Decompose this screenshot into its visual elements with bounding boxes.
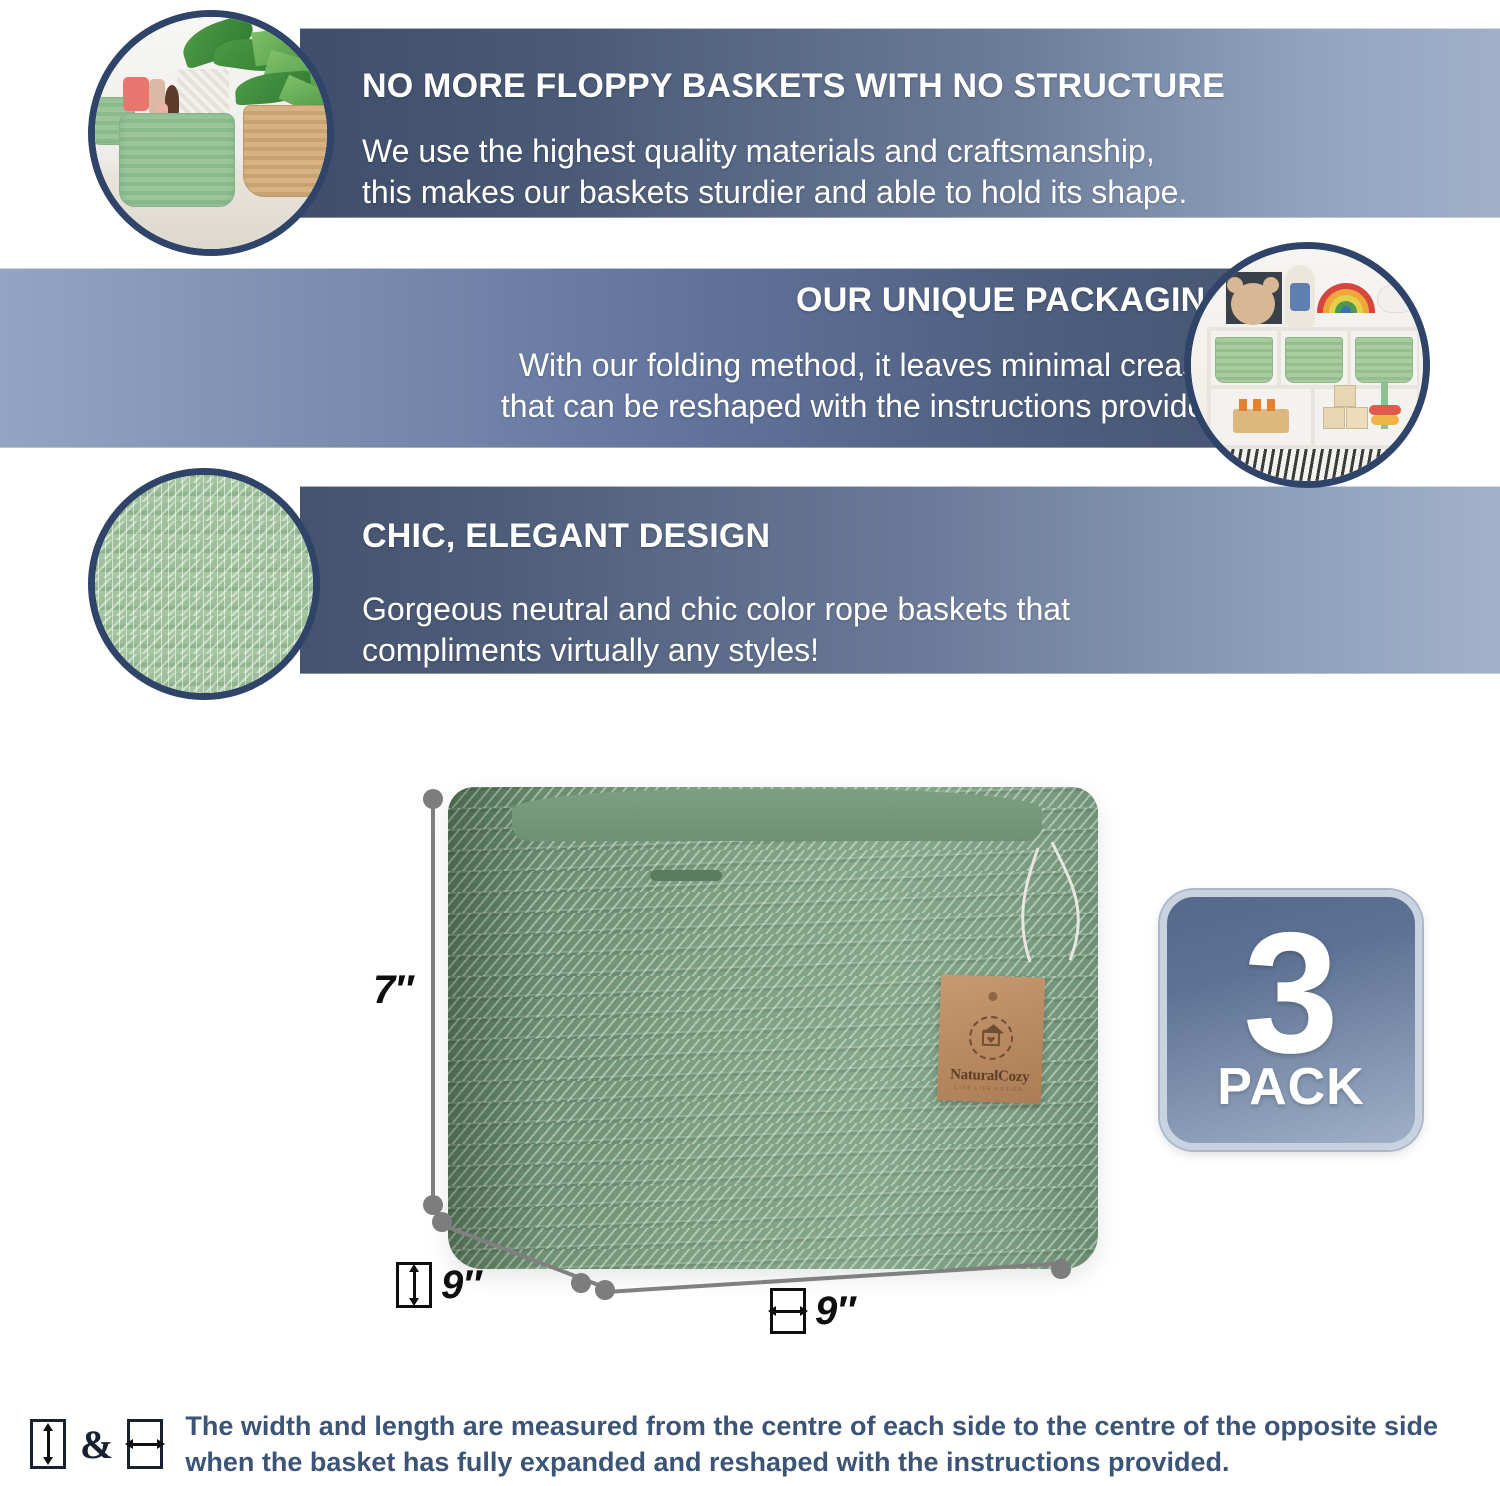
dimension-endpoint — [423, 789, 443, 809]
carrot-toy-icon — [1253, 399, 1261, 411]
basket-handle-slot — [650, 870, 722, 881]
brand-name: NaturalCozy — [937, 1066, 1042, 1087]
disclaimer-line-2: when the basket has fully expanded and r… — [185, 1444, 1438, 1480]
feature-photo-design — [88, 468, 320, 700]
dimension-endpoint — [432, 1212, 452, 1232]
shelf-basket — [1285, 337, 1343, 383]
feature-title: CHIC, ELEGANT DESIGN — [362, 518, 1070, 555]
feature-body-line-1: With our folding method, it leaves minim… — [501, 345, 1232, 386]
cloud-toy-icon — [1377, 285, 1415, 313]
feature-body-line-2: compliments virtually any styles! — [362, 630, 1070, 671]
wooden-cart-toy-icon — [1233, 409, 1289, 433]
rainbow-toy-icon — [1341, 306, 1351, 313]
height-measure-icon — [396, 1262, 432, 1308]
banner-copy: OUR UNIQUE PACKAGING With our folding me… — [501, 282, 1232, 427]
green-basket-primary — [119, 113, 235, 207]
bottle-item — [123, 77, 149, 111]
height-measure-icon — [30, 1419, 66, 1469]
dimension-label-width: 9″ — [770, 1288, 854, 1334]
disclaimer-line-1: The width and length are measured from t… — [185, 1408, 1438, 1444]
dimension-label-height: 7″ — [373, 968, 412, 1013]
dimension-value-depth: 9″ — [441, 1263, 480, 1308]
carrot-toy-icon — [1239, 399, 1247, 411]
width-measure-icon — [127, 1419, 163, 1469]
pack-count-badge: 3 PACK — [1160, 890, 1422, 1150]
feature-body-line-1: We use the highest quality materials and… — [362, 131, 1225, 172]
dimension-endpoint — [595, 1280, 615, 1300]
tag-hole — [988, 992, 997, 1001]
measurement-disclaimer: & The width and length are measured from… — [30, 1408, 1438, 1481]
ampersand-separator: & — [80, 1421, 113, 1468]
teddy-bear-icon — [1263, 277, 1279, 293]
feature-body-line-2: this makes our baskets sturdier and able… — [362, 172, 1225, 213]
bunny-doll-icon — [1290, 283, 1310, 311]
house-icon — [982, 1030, 1001, 1047]
shelf-basket — [1355, 337, 1413, 383]
pack-count-label: PACK — [1217, 1061, 1364, 1113]
carrot-toy-icon — [1267, 399, 1275, 411]
dimension-value-width: 9″ — [815, 1289, 854, 1334]
dimension-label-depth: 9″ — [396, 1262, 480, 1308]
pack-count-number: 3 — [1243, 923, 1339, 1064]
heart-icon — [987, 1036, 995, 1043]
teddy-bear-icon — [1227, 277, 1243, 293]
wooden-blocks-icon — [1323, 407, 1345, 429]
dimension-endpoint — [571, 1273, 591, 1293]
dimension-line-height — [431, 799, 435, 1203]
feature-body-line-1: Gorgeous neutral and chic color rope bas… — [362, 589, 1070, 630]
dimension-value-height: 7″ — [373, 968, 412, 1013]
shelf-basket — [1215, 337, 1273, 383]
feature-photo-packaging — [1184, 242, 1430, 488]
feature-photo-structure — [88, 10, 334, 256]
feature-body: With our folding method, it leaves minim… — [501, 345, 1232, 427]
width-measure-icon — [770, 1288, 806, 1334]
feature-body: Gorgeous neutral and chic color rope bas… — [362, 589, 1070, 671]
banner-copy: NO MORE FLOPPY BASKETS WITH NO STRUCTURE… — [362, 68, 1225, 213]
feature-title: OUR UNIQUE PACKAGING — [501, 282, 1232, 319]
banner-copy: CHIC, ELEGANT DESIGN Gorgeous neutral an… — [362, 518, 1070, 671]
rope-stitching — [88, 468, 320, 700]
dimension-endpoint — [1051, 1259, 1071, 1279]
feature-body: We use the highest quality materials and… — [362, 131, 1225, 213]
disclaimer-text: The width and length are measured from t… — [185, 1408, 1438, 1481]
feature-title: NO MORE FLOPPY BASKETS WITH NO STRUCTURE — [362, 68, 1225, 105]
product-infographic: NO MORE FLOPPY BASKETS WITH NO STRUCTURE… — [0, 0, 1500, 1486]
wooden-blocks-icon — [1334, 385, 1356, 407]
basket-side-panel — [448, 787, 539, 1269]
brand-logo-icon — [968, 1015, 1014, 1061]
hang-tag: NaturalCozy LIVE LIFE COZIER — [937, 974, 1045, 1104]
jute-planter — [243, 105, 334, 197]
feature-body-line-2: that can be reshaped with the instructio… — [501, 386, 1232, 427]
stacking-toy-icon — [1369, 405, 1401, 415]
wooden-blocks-icon — [1346, 407, 1368, 429]
basket-rim — [512, 789, 1042, 841]
stacking-toy-icon — [1371, 415, 1399, 425]
